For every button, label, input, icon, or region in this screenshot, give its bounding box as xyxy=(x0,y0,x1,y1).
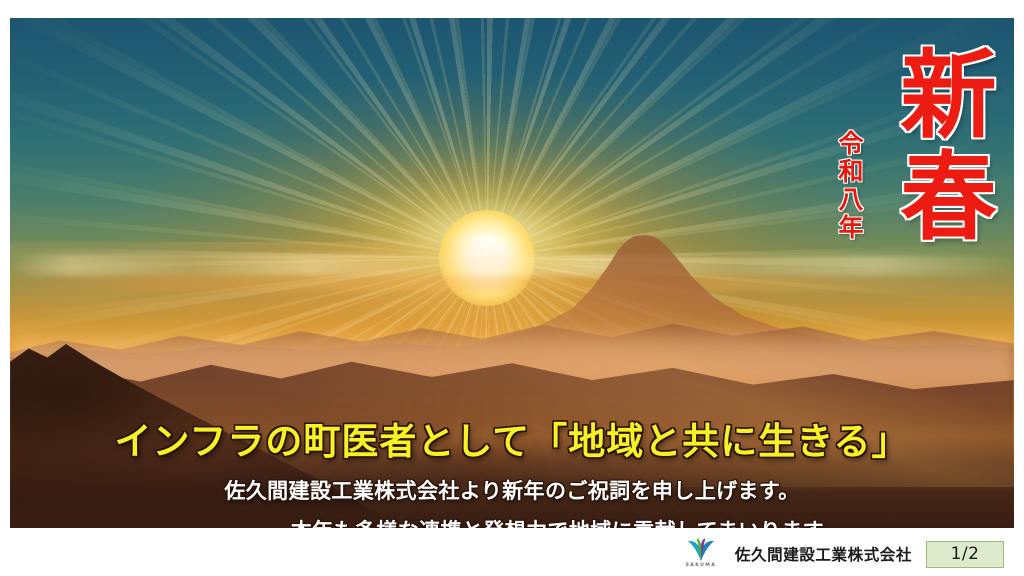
sunrise-fuji-photo: 新春 令和八年 インフラの町医者として「地域と共に生きる」 佐久間建設工業株式会… xyxy=(10,18,1014,528)
page-number-badge: 1/2 xyxy=(926,541,1004,568)
slogan-subline-commitment: 本年も多様な連携と発想力で地域に貢献してまいります。 xyxy=(34,515,990,528)
sakuma-fan-icon xyxy=(679,537,723,562)
slogan-block: インフラの町医者として「地域と共に生きる」 佐久間建設工業株式会社より新年のご祝… xyxy=(10,420,1014,528)
slogan-headline: インフラの町医者として「地域と共に生きる」 xyxy=(34,420,990,464)
slogan-subline-greeting: 佐久間建設工業株式会社より新年のご祝詞を申し上げます。 xyxy=(34,475,990,508)
company-name-label: 佐久間建設工業株式会社 xyxy=(735,543,912,565)
sun-disc-icon xyxy=(439,210,535,306)
company-brand: SAKUMA 佐久間建設工業株式会社 xyxy=(679,537,912,571)
calligraphy-shinshun: 新春 xyxy=(890,44,990,248)
sakuma-wordmark: SAKUMA xyxy=(686,563,717,568)
slide-footer: SAKUMA 佐久間建設工業株式会社 1/2 xyxy=(10,534,1014,574)
presentation-slide: 新春 令和八年 インフラの町医者として「地域と共に生きる」 佐久間建設工業株式会… xyxy=(0,0,1024,576)
calligraphy-era-year: 令和八年 xyxy=(829,130,868,242)
sakuma-logo-icon: SAKUMA xyxy=(679,537,723,571)
